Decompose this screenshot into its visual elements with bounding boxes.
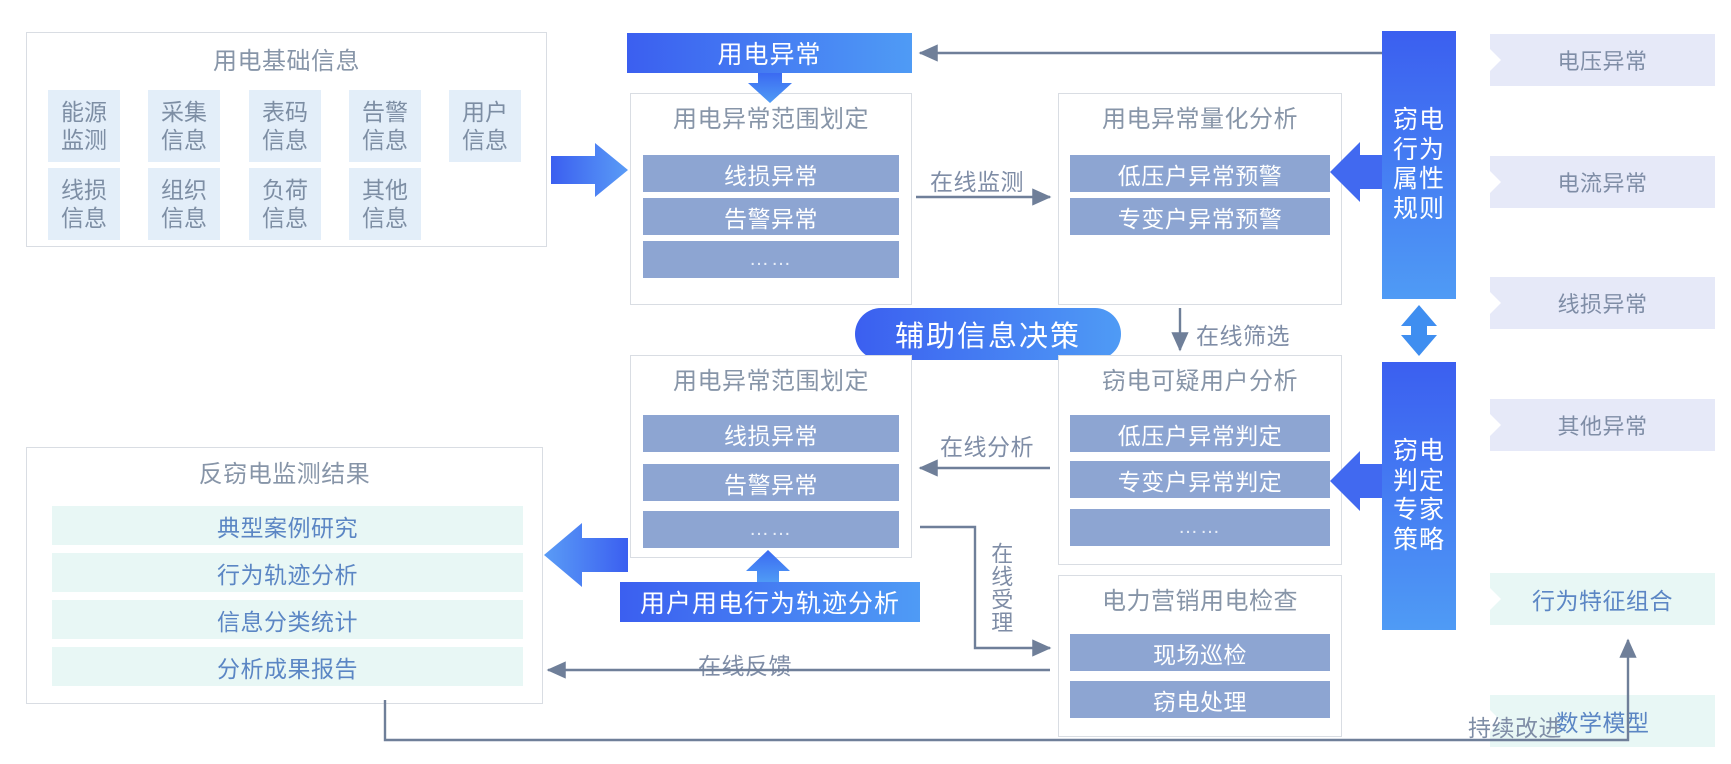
row-label: 专变户异常预警 (1118, 200, 1283, 234)
anomaly-banner-label: 用电异常 (717, 35, 821, 71)
right-top-item-3[interactable]: 其他异常 (1490, 399, 1715, 451)
chip-meter-code-info[interactable]: 表码 信息 (249, 90, 321, 162)
theft-decision-expert-label: 窃电判定专家策略 (1390, 437, 1448, 555)
result-item-2[interactable]: 信息分类统计 (52, 600, 523, 639)
chip-line: 线损 (61, 176, 107, 204)
row-label: 行为特征组合 (1532, 582, 1673, 616)
chip-line: 信息 (161, 204, 207, 232)
row-label: 现场巡检 (1153, 636, 1247, 670)
label-online-feedback: 在线反馈 (698, 647, 792, 681)
inspection-item-1[interactable]: 窃电处理 (1070, 681, 1330, 718)
quantify-item-0[interactable]: 低压户异常预警 (1070, 155, 1330, 192)
row-label: 线损异常 (1557, 287, 1647, 319)
result-item-1[interactable]: 行为轨迹分析 (52, 553, 523, 592)
trajectory-banner-label: 用户用电行为轨迹分析 (640, 584, 900, 620)
scope-top-item-2[interactable]: …… (643, 241, 899, 278)
diagram-canvas: 用电基础信息 能源 监测 采集 信息 表码 信息 告警 信息 用户 信息 线损 … (0, 0, 1731, 764)
row-label: 低压户异常判定 (1118, 417, 1283, 451)
chip-collection-info[interactable]: 采集 信息 (148, 90, 220, 162)
scope-bottom-item-1[interactable]: 告警异常 (643, 464, 899, 501)
result-item-0[interactable]: 典型案例研究 (52, 506, 523, 545)
quantify-title: 用电异常量化分析 (1059, 105, 1341, 135)
scope-bottom-item-2[interactable]: …… (643, 511, 899, 548)
chip-alarm-info[interactable]: 告警 信息 (349, 90, 421, 162)
chip-line: 信息 (161, 126, 207, 154)
row-label: 分析成果报告 (217, 650, 358, 684)
row-label: 告警异常 (724, 466, 818, 500)
chip-line: 信息 (61, 204, 107, 232)
chip-line: 用户 (462, 98, 508, 126)
decision-pill-label: 辅助信息决策 (895, 313, 1081, 355)
chip-line: 其他 (362, 176, 408, 204)
label-online-filter: 在线筛选 (1196, 317, 1290, 351)
scope-bottom-item-0[interactable]: 线损异常 (643, 415, 899, 452)
trajectory-banner[interactable]: 用户用电行为轨迹分析 (620, 582, 920, 622)
scope-top-item-0[interactable]: 线损异常 (643, 155, 899, 192)
chip-line: 采集 (161, 98, 207, 126)
suspect-item-1[interactable]: 专变户异常判定 (1070, 461, 1330, 498)
quantify-item-1[interactable]: 专变户异常预警 (1070, 198, 1330, 235)
row-label: …… (749, 518, 793, 541)
theft-behavior-rule-label: 窃电行为属性规则 (1390, 106, 1448, 224)
chip-line: 告警 (362, 98, 408, 126)
chip-line: 能源 (61, 98, 107, 126)
row-label: 电压异常 (1557, 44, 1647, 76)
row-label: 线损异常 (724, 417, 818, 451)
scope-top-item-1[interactable]: 告警异常 (643, 198, 899, 235)
theft-decision-expert-bar[interactable]: 窃电判定专家策略 (1382, 362, 1456, 630)
row-label: 其他异常 (1557, 409, 1647, 441)
basic-info-title: 用电基础信息 (27, 47, 546, 77)
label-continuous-improve: 持续改进 (1468, 709, 1562, 743)
row-label: 行为轨迹分析 (217, 556, 358, 590)
double-arrow-between-rule-bars (1401, 305, 1437, 356)
row-label: 专变户异常判定 (1118, 463, 1283, 497)
edge-online-accept (920, 527, 1050, 648)
row-label: 低压户异常预警 (1118, 157, 1283, 191)
chip-line: 监测 (61, 126, 107, 154)
result-title: 反窃电监测结果 (27, 460, 542, 490)
label-online-monitor: 在线监测 (930, 163, 1024, 197)
row-label: 告警异常 (724, 200, 818, 234)
right-bottom-item-0[interactable]: 行为特征组合 (1490, 573, 1715, 625)
big-arrow-to-scope-top (551, 143, 628, 197)
inspection-item-0[interactable]: 现场巡检 (1070, 634, 1330, 671)
suspect-item-0[interactable]: 低压户异常判定 (1070, 415, 1330, 452)
chip-org-info[interactable]: 组织 信息 (148, 168, 220, 240)
label-online-analysis: 在线分析 (940, 428, 1034, 462)
row-label: …… (749, 248, 793, 271)
result-item-3[interactable]: 分析成果报告 (52, 647, 523, 686)
row-label: 信息分类统计 (217, 603, 358, 637)
chip-other-info[interactable]: 其他 信息 (349, 168, 421, 240)
chip-line: 信息 (262, 204, 308, 232)
row-label: 数学模型 (1556, 704, 1650, 738)
chip-energy-monitor[interactable]: 能源 监测 (48, 90, 120, 162)
right-top-item-2[interactable]: 线损异常 (1490, 277, 1715, 329)
suspect-title: 窃电可疑用户分析 (1059, 367, 1341, 397)
chip-load-info[interactable]: 负荷 信息 (249, 168, 321, 240)
scope-top-title: 用电异常范围划定 (631, 105, 911, 135)
scope-bottom-title: 用电异常范围划定 (631, 367, 911, 397)
row-label: 窃电处理 (1153, 683, 1247, 717)
row-label: …… (1178, 516, 1222, 539)
chip-line: 信息 (262, 126, 308, 154)
chip-line: 信息 (462, 126, 508, 154)
chip-line: 信息 (362, 204, 408, 232)
label-online-accept: 在线受理 (988, 542, 1012, 664)
row-label: 线损异常 (724, 157, 818, 191)
decision-pill[interactable]: 辅助信息决策 (855, 308, 1121, 360)
chip-line: 负荷 (262, 176, 308, 204)
chip-line: 组织 (161, 176, 207, 204)
suspect-item-2[interactable]: …… (1070, 509, 1330, 546)
big-arrow-to-result (544, 523, 628, 587)
chip-line: 信息 (362, 126, 408, 154)
row-label: 典型案例研究 (217, 509, 358, 543)
theft-behavior-rule-bar[interactable]: 窃电行为属性规则 (1382, 31, 1456, 299)
row-label: 电流异常 (1557, 166, 1647, 198)
chip-line-loss-info[interactable]: 线损 信息 (48, 168, 120, 240)
chip-user-info[interactable]: 用户 信息 (449, 90, 521, 162)
chip-line: 表码 (262, 98, 308, 126)
right-top-item-1[interactable]: 电流异常 (1490, 156, 1715, 208)
right-top-item-0[interactable]: 电压异常 (1490, 34, 1715, 86)
anomaly-banner[interactable]: 用电异常 (627, 33, 912, 73)
inspection-title: 电力营销用电检查 (1059, 587, 1341, 617)
